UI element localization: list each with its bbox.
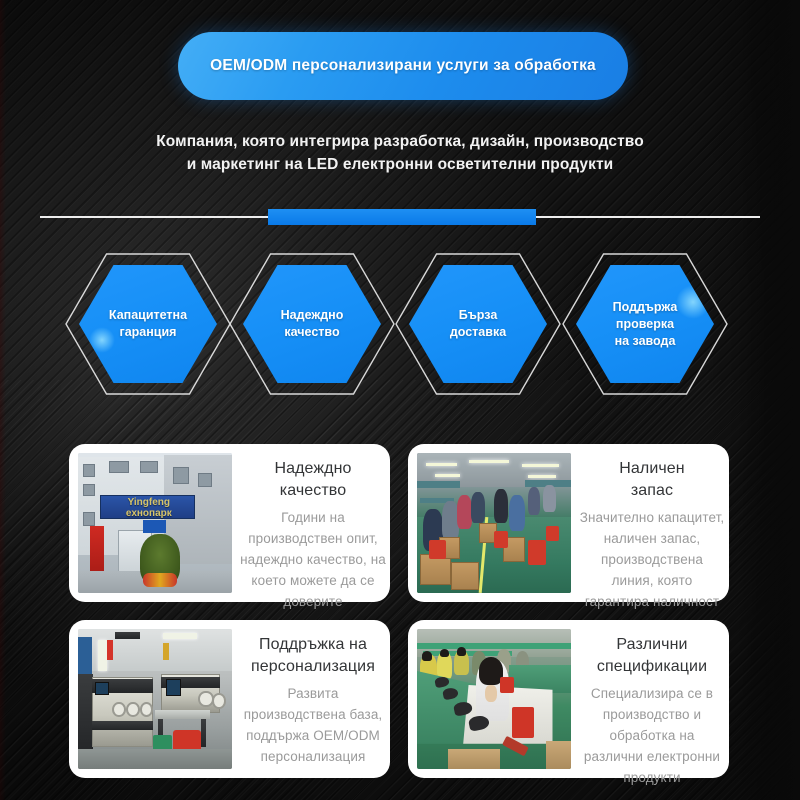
section-divider-accent — [268, 209, 536, 225]
hexagon-label-3: Бърза доставка — [418, 307, 538, 341]
feature-card-4-description: Специализира се в производство и обработ… — [579, 683, 725, 788]
hexagon-badge-1[interactable]: Капацитетна гаранция — [65, 253, 231, 395]
photo-sign-line-2: ехнопарк — [126, 508, 172, 519]
hexagon-label-4: Поддържа проверка на завода — [585, 299, 705, 350]
feature-card-1-text: Надеждно качество Години на производстве… — [232, 444, 390, 612]
feature-card-2-title: Наличен запас — [579, 458, 725, 502]
hexagon-badge-3[interactable]: Бърза доставка — [395, 253, 561, 395]
hexagon-label-2-line-1: Надеждно — [252, 307, 372, 324]
hexagon-badge-2[interactable]: Надеждно качество — [229, 253, 395, 395]
warehouse-packing-photo — [417, 453, 571, 593]
card-title-line-1: Наличен — [579, 458, 725, 480]
card-title-line-1: Поддръжка на — [240, 634, 386, 656]
hero-subtitle: Компания, която интегрира разработка, ди… — [50, 130, 750, 176]
feature-card-1-description: Години на производствен опит, надеждно к… — [240, 507, 386, 612]
smt-machine-photo — [78, 629, 232, 769]
feature-card-1-title: Надеждно качество — [240, 458, 386, 502]
feature-card-1[interactable]: Yingfeng ехнопарк Надеждно качество Годи… — [69, 444, 390, 602]
hexagon-label-4-line-3: на завода — [585, 333, 705, 350]
hexagon-label-4-line-1: Поддържа — [585, 299, 705, 316]
feature-card-4[interactable]: Различни спецификации Специализира се в … — [408, 620, 729, 778]
card-title-line-1: Надеждно — [240, 458, 386, 480]
card-title-line-2: качество — [240, 480, 386, 502]
feature-card-4-text: Различни спецификации Специализира се в … — [571, 620, 729, 788]
hero-subtitle-line-2: и маркетинг на LED електронни осветителн… — [50, 153, 750, 176]
feature-card-3-description: Развита производствена база, поддържа OE… — [240, 683, 386, 767]
hexagon-label-2: Надеждно качество — [252, 307, 372, 341]
hexagon-label-3-line-2: доставка — [418, 324, 538, 341]
feature-card-3[interactable]: Поддръжка на персонализация Развита прои… — [69, 620, 390, 778]
hexagon-label-1-line-1: Капацитетна — [88, 307, 208, 324]
photo-sign-text: Yingfeng ехнопарк — [103, 495, 195, 520]
card-title-line-2: персонализация — [240, 656, 386, 678]
feature-card-2-description: Значително капацитет, наличен запас, про… — [579, 507, 725, 612]
hexagon-badge-4[interactable]: Поддържа проверка на завода — [562, 253, 728, 395]
factory-building-photo: Yingfeng ехнопарк — [78, 453, 232, 593]
hexagon-label-4-line-2: проверка — [585, 316, 705, 333]
hexagon-label-3-line-1: Бърза — [418, 307, 538, 324]
hero-subtitle-line-1: Компания, която интегрира разработка, ди… — [50, 130, 750, 153]
hero-banner-title: OEM/ODM персонализирани услуги за обрабо… — [210, 57, 596, 75]
hexagon-label-2-line-2: качество — [252, 324, 372, 341]
hero-banner-pill: OEM/ODM персонализирани услуги за обрабо… — [178, 32, 628, 100]
hexagon-label-1-line-2: гаранция — [88, 324, 208, 341]
card-title-line-2: спецификации — [579, 656, 725, 678]
feature-card-3-text: Поддръжка на персонализация Развита прои… — [232, 620, 390, 767]
feature-card-3-title: Поддръжка на персонализация — [240, 634, 386, 678]
feature-card-4-title: Различни спецификации — [579, 634, 725, 678]
feature-hexagon-row: Капацитетна гаранция Надеждно качество Б… — [0, 253, 800, 395]
card-title-line-1: Различни — [579, 634, 725, 656]
card-title-line-2: запас — [579, 480, 725, 502]
feature-card-2-text: Наличен запас Значително капацитет, нали… — [571, 444, 729, 612]
photo-sign-line-1: Yingfeng — [128, 497, 170, 508]
hexagon-label-1: Капацитетна гаранция — [88, 307, 208, 341]
feature-card-2[interactable]: Наличен запас Значително капацитет, нали… — [408, 444, 729, 602]
assembly-line-photo — [417, 629, 571, 769]
